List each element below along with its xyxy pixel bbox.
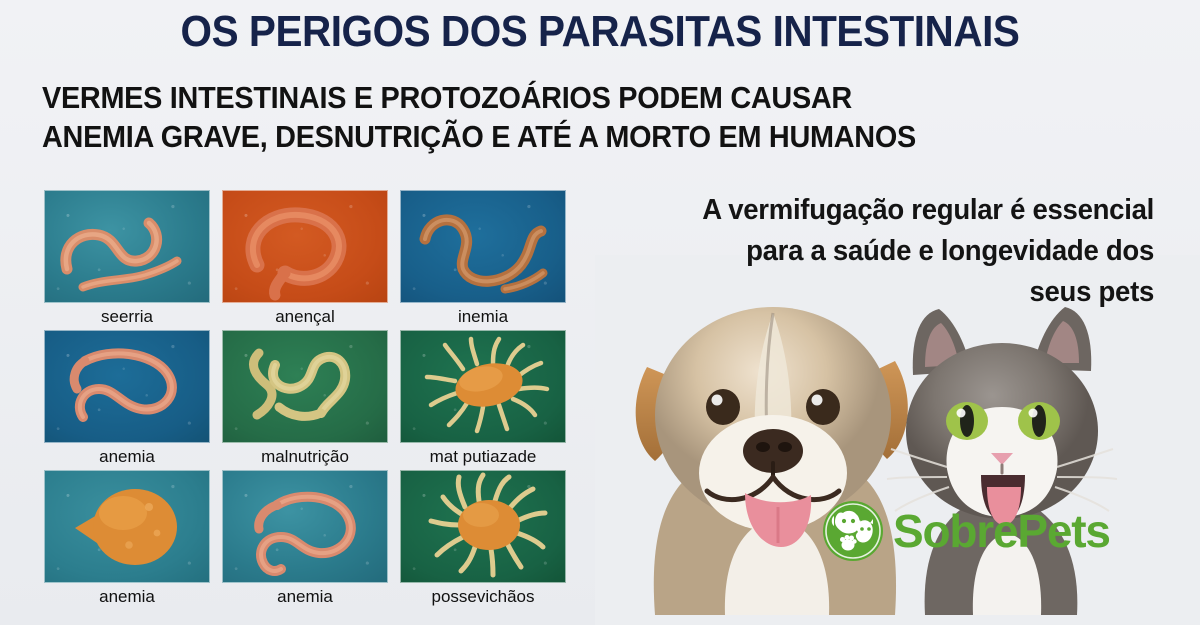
roundworm-icon xyxy=(45,191,210,303)
gallery-item[interactable]: anemia xyxy=(44,470,210,610)
poster-canvas: OS PERIGOS DOS PARASITAS INTESTINAIS VER… xyxy=(0,0,1200,625)
brand-name: SobrePets xyxy=(893,508,1110,554)
gallery-item[interactable]: possevichãos xyxy=(400,470,566,610)
protozoan-icon xyxy=(401,471,566,583)
specimen-image-pale-worms xyxy=(222,330,388,443)
gallery-item[interactable]: inemia xyxy=(400,190,566,330)
gallery-item-caption: seerria xyxy=(44,303,210,330)
gallery-item[interactable]: malnutrição xyxy=(222,330,388,470)
brand-name-part1: Sobre xyxy=(893,505,1017,557)
gallery-item-caption: malnutrição xyxy=(222,443,388,470)
specimen-gallery: seerria anençal xyxy=(44,190,566,610)
gallery-item[interactable]: seerria xyxy=(44,190,210,330)
protozoan-icon xyxy=(401,331,566,443)
specimen-image-cyst xyxy=(44,470,210,583)
brand-logo[interactable]: SobrePets xyxy=(822,500,1110,562)
dog-figure xyxy=(636,307,908,615)
gallery-item[interactable]: anençal xyxy=(222,190,388,330)
gallery-item[interactable]: anemia xyxy=(222,470,388,610)
roundworm-pair-icon xyxy=(223,331,388,443)
specimen-image-curved-worm xyxy=(44,190,210,303)
roundworm-icon xyxy=(223,471,388,583)
specimen-image-loop-worm xyxy=(222,190,388,303)
gallery-item-caption: possevichãos xyxy=(400,583,566,610)
specimen-image-knotted-worm xyxy=(44,330,210,443)
subtitle-line-2: ANEMIA GRAVE, DESNUTRIÇÃO E ATÉ A MORTO … xyxy=(42,117,1084,156)
brand-name-part2: Pets xyxy=(1017,505,1109,557)
roundworm-icon xyxy=(45,331,210,443)
lead-paragraph: A vermifugação regular é essencial para … xyxy=(626,190,1154,313)
roundworm-pair-icon xyxy=(401,191,566,303)
gallery-item-caption: anemia xyxy=(44,583,210,610)
gallery-item-caption: anençal xyxy=(222,303,388,330)
gallery-item[interactable]: mat putiazade xyxy=(400,330,566,470)
gallery-item[interactable]: anemia xyxy=(44,330,210,470)
dog-cat-paw-badge-icon xyxy=(822,500,884,562)
lead-line-3: seus pets xyxy=(626,272,1154,313)
page-subtitle: VERMES INTESTINAIS E PROTOZOÁRIOS PODEM … xyxy=(42,78,1084,156)
specimen-image-loop-worm2 xyxy=(222,470,388,583)
subtitle-line-1: VERMES INTESTINAIS E PROTOZOÁRIOS PODEM … xyxy=(42,78,1084,117)
gallery-item-caption: anemia xyxy=(222,583,388,610)
page-title: OS PERIGOS DOS PARASITAS INTESTINAIS xyxy=(48,6,1152,58)
lead-line-1: A vermifugação regular é essencial xyxy=(626,190,1154,231)
protozoan-cyst-icon xyxy=(45,471,210,583)
specimen-image-two-worms xyxy=(400,190,566,303)
roundworm-icon xyxy=(223,191,388,303)
lead-line-2: para a saúde e longevidade dos xyxy=(626,231,1154,272)
gallery-item-caption: inemia xyxy=(400,303,566,330)
specimen-image-ciliate xyxy=(400,330,566,443)
specimen-image-ciliate-round xyxy=(400,470,566,583)
gallery-item-caption: anemia xyxy=(44,443,210,470)
gallery-item-caption: mat putiazade xyxy=(400,443,566,470)
